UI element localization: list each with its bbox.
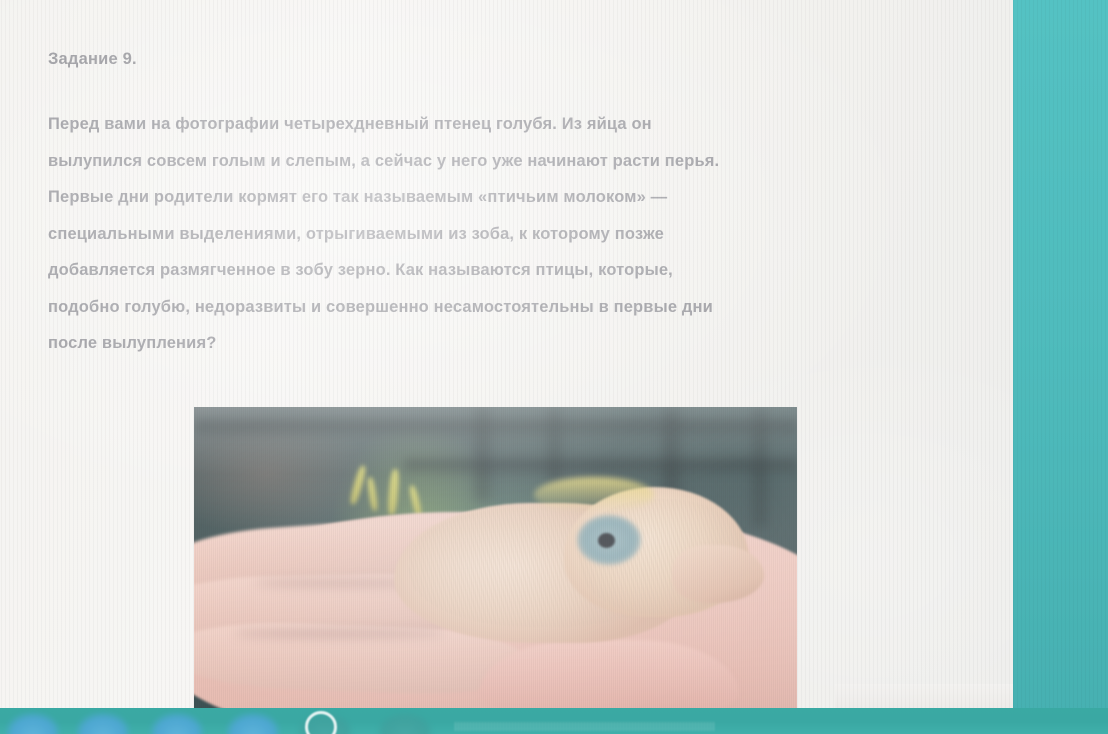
- task-line: вылупился совсем голым и слепым, а сейча…: [48, 143, 943, 180]
- photographed-screen: Задание 9. Перед вами на фотографии четы…: [0, 0, 1108, 734]
- system-nav-bar[interactable]: [0, 708, 1108, 734]
- task-block: Задание 9. Перед вами на фотографии четы…: [48, 50, 948, 362]
- photo-glare: [194, 407, 797, 712]
- app-icon-2[interactable]: [78, 714, 128, 734]
- app-icon-4[interactable]: [228, 714, 278, 734]
- nav-hint-bar: [455, 722, 715, 731]
- task-line: добавляется размягченное в зобу зерно. К…: [48, 252, 943, 289]
- task-line: специальными выделениями, отрыгиваемыми …: [48, 216, 943, 253]
- pigeon-chick-photo: [194, 407, 797, 712]
- app-icon-1[interactable]: [8, 714, 58, 734]
- app-icon-3[interactable]: [152, 714, 202, 734]
- task-line: подобно голубю, недоразвиты и совершенно…: [48, 289, 943, 326]
- app-icon-6[interactable]: [380, 714, 430, 734]
- task-line: после вылупления?: [48, 325, 943, 362]
- task-line: Перед вами на фотографии четырехдневный …: [48, 106, 943, 143]
- task-line: Первые дни родители кормят его так назыв…: [48, 179, 943, 216]
- task-body: Перед вами на фотографии четырехдневный …: [48, 106, 943, 362]
- task-title: Задание 9.: [48, 50, 948, 69]
